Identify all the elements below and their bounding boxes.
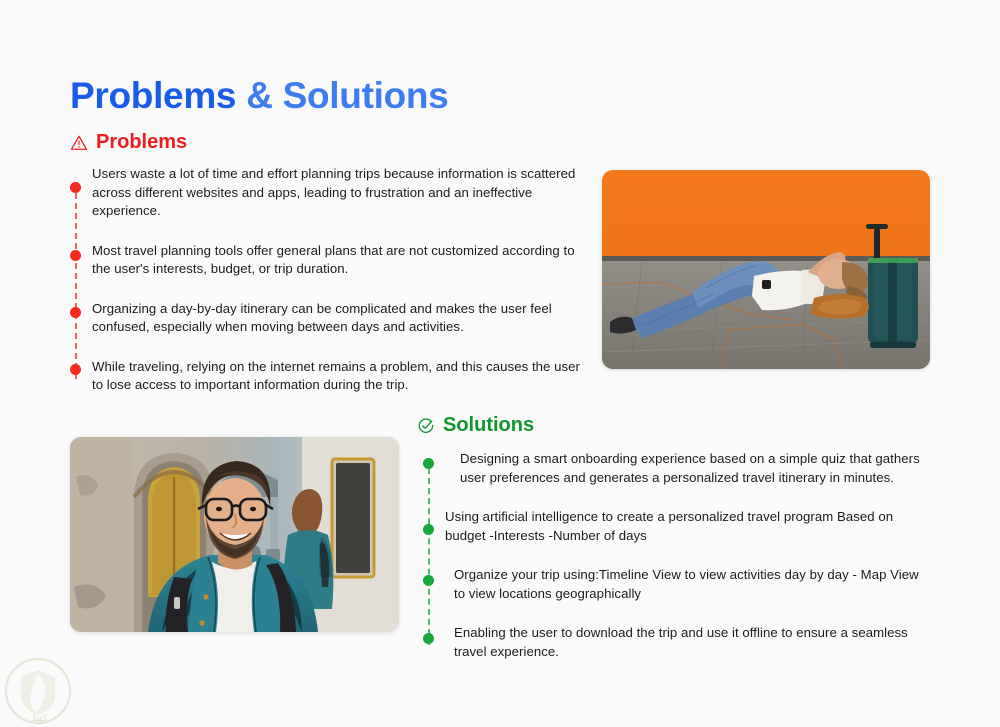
solution-bullet-dot: [423, 575, 434, 586]
solution-item-text: Using artificial intelligence to create …: [445, 508, 933, 545]
solutions-section-header: Solutions: [417, 414, 534, 437]
problem-item-1: Users waste a lot of time and effort pla…: [70, 165, 582, 221]
solution-item-2: Using artificial intelligence to create …: [423, 508, 933, 545]
solution-bullet-dot: [423, 524, 434, 535]
problems-list: Users waste a lot of time and effort pla…: [70, 165, 582, 395]
problem-item-3: Organizing a day-by-day itinerary can be…: [70, 300, 582, 337]
photo-tired-traveler-lying-on-airport-floor: [602, 170, 930, 369]
solutions-timeline-connector: [428, 468, 430, 645]
photo-smiling-traveler-in-alley: [70, 437, 399, 632]
solution-item-text: Organize your trip using:Timeline View t…: [445, 566, 933, 603]
problem-item-text: Users waste a lot of time and effort pla…: [92, 165, 582, 221]
page-title-solutions: & Solutions: [246, 75, 448, 116]
solution-item-3: Organize your trip using:Timeline View t…: [423, 566, 933, 603]
problem-bullet-dot: [70, 307, 81, 318]
solution-bullet-dot: [423, 633, 434, 644]
check-circle-icon: [417, 417, 435, 435]
page-title: Problems & Solutions: [70, 76, 448, 117]
solution-bullet-dot: [423, 458, 434, 469]
warning-triangle-icon: [70, 134, 88, 152]
problem-bullet-dot: [70, 364, 81, 375]
kafeel-shield-watermark: كفيل: [2, 655, 74, 727]
solutions-heading-label: Solutions: [443, 414, 534, 437]
slide-root: Problems & Solutions Problems Users wast…: [0, 0, 1000, 726]
solution-item-text: Designing a smart onboarding experience …: [445, 450, 933, 487]
problem-item-text: Most travel planning tools offer general…: [92, 242, 582, 279]
problem-item-2: Most travel planning tools offer general…: [70, 242, 582, 279]
problem-item-text: While traveling, relying on the internet…: [92, 358, 582, 395]
problem-item-4: While traveling, relying on the internet…: [70, 358, 582, 395]
page-title-problems: Problems: [70, 75, 246, 116]
solution-item-4: Enabling the user to download the trip a…: [423, 624, 933, 661]
solutions-list: Designing a smart onboarding experience …: [423, 450, 933, 661]
watermark-caption: كفيل: [29, 714, 48, 724]
solution-item-text: Enabling the user to download the trip a…: [445, 624, 933, 661]
problems-section-header: Problems: [70, 131, 187, 154]
problems-heading-label: Problems: [96, 131, 187, 154]
problem-item-text: Organizing a day-by-day itinerary can be…: [92, 300, 582, 337]
problem-bullet-dot: [70, 182, 81, 193]
problem-bullet-dot: [70, 250, 81, 261]
solution-item-1: Designing a smart onboarding experience …: [423, 450, 933, 487]
